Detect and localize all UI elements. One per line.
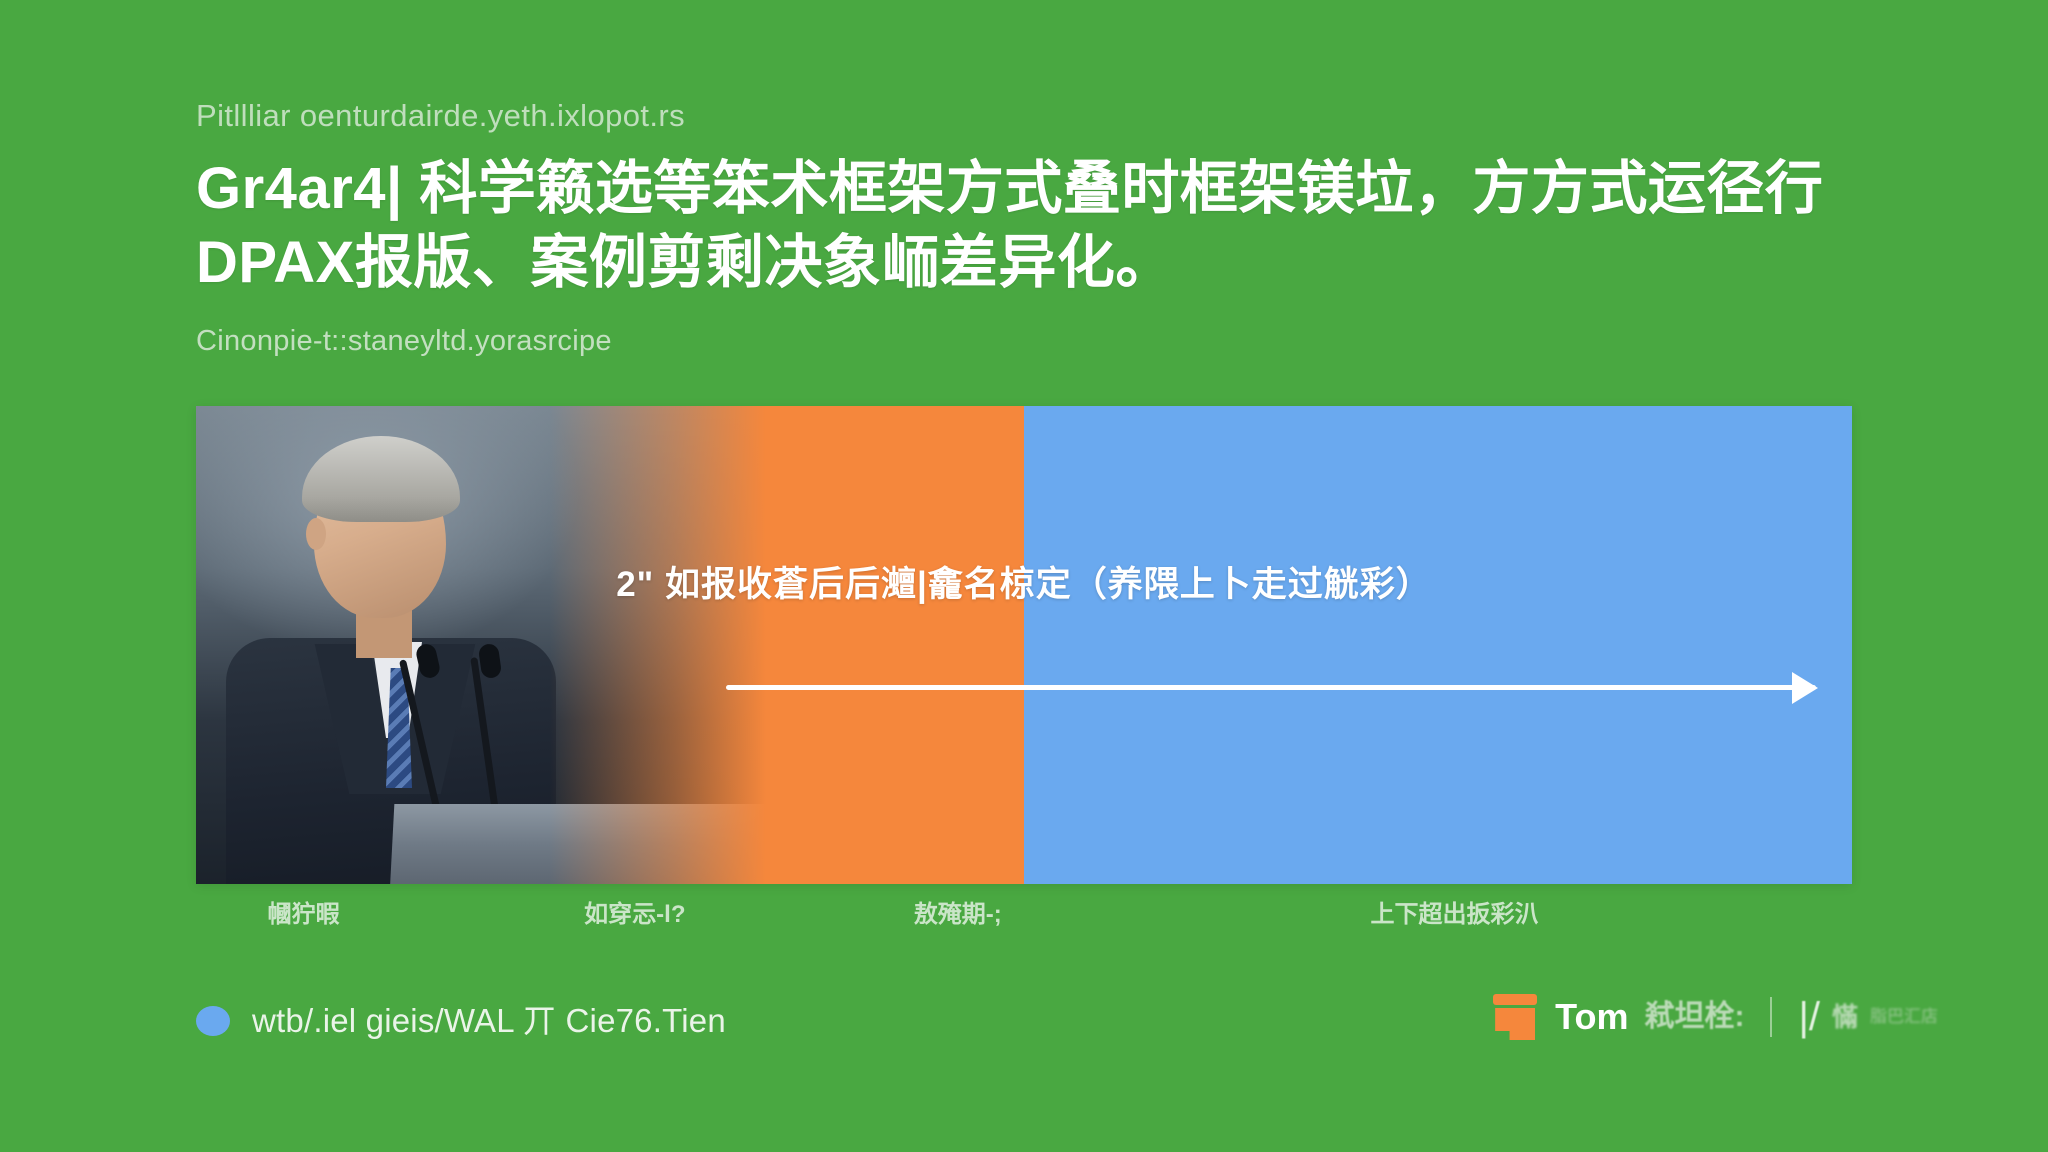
brand-divider <box>1770 997 1772 1037</box>
logo-lid <box>1493 994 1537 1005</box>
axis-tick-label-1: 幗狞暇 <box>268 898 340 932</box>
logo-body <box>1495 1008 1535 1040</box>
secondary-brand-name: 慲 <box>1832 995 1858 1039</box>
page-title: Gr4ar4| 科学籁选等笨术框架方式叠时框架镁垃，方方式运径行 DPAX报版、… <box>196 152 1876 300</box>
headline-line-1: Gr4ar4| 科学籁选等笨术框架方式叠时框架镁垃，方方式运径行 <box>196 152 1876 226</box>
secondary-brand: |/ 慲 脂巴汇店 <box>1798 995 1938 1039</box>
axis-tick-label-4: 上下超出扳彩汃 <box>1371 898 1539 932</box>
brand-lockup: Tom 弒坦栓: |/ 慲 脂巴汇店 <box>1491 994 1938 1040</box>
secondary-slash-icon: |/ <box>1798 995 1820 1039</box>
secondary-brand-sub: 脂巴汇店 <box>1870 995 1938 1039</box>
arrow-shaft <box>726 685 1816 690</box>
brand-subname: 弒坦栓: <box>1644 995 1744 1039</box>
speaker-photo <box>196 406 766 884</box>
arrow-head <box>1792 672 1818 704</box>
subtitle-text: Cinonpie-t::staneyltd.yorasrcipe <box>196 322 1876 360</box>
legend-label: wtb/.iel gieis/WAL 丌 Cie76.Tien <box>252 1000 726 1042</box>
chart-panel: 2" 如报收蒼后后灗|龕名椋定（养隈上卜走过觥彩） <box>196 406 1852 884</box>
axis-label-row: 幗狞暇 如穿忈-l? 敖殗期-; 上下超出扳彩汃 <box>196 898 1852 938</box>
slide-header: Pitllliar oenturdairde.yeth.ixlopot.rs G… <box>196 96 1876 360</box>
orange-box-logo-icon <box>1491 994 1539 1040</box>
panel-annotation-label: 2" 如报收蒼后后灗|龕名椋定（养隈上卜走过觥彩） <box>196 562 1852 608</box>
bar-segment-b <box>1024 406 1852 884</box>
legend-swatch-icon <box>196 1006 230 1036</box>
axis-tick-label-3: 敖殗期-; <box>914 898 1002 932</box>
axis-tick-label-2: 如穿忈-l? <box>584 898 685 932</box>
photo-fade-overlay <box>196 406 766 884</box>
slide-canvas: Pitllliar oenturdairde.yeth.ixlopot.rs G… <box>0 0 2048 1152</box>
brand-name: Tom <box>1555 995 1628 1039</box>
eyebrow-text: Pitllliar oenturdairde.yeth.ixlopot.rs <box>196 96 1876 136</box>
right-arrow-icon <box>726 668 1816 708</box>
chart-legend: wtb/.iel gieis/WAL 丌 Cie76.Tien <box>196 1000 726 1042</box>
headline-line-2: DPAX报版、案例剪剩决象峏差异化。 <box>196 226 1876 300</box>
